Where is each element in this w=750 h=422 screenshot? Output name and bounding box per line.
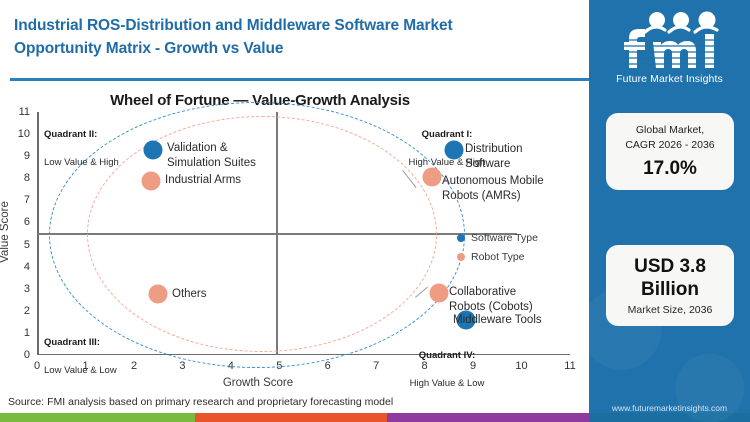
chart-container: Wheel of Fortune — Value-Growth Analysis… xyxy=(0,84,589,384)
bubble-industrial-arms[interactable] xyxy=(141,171,160,190)
cagr-card-value: 17.0% xyxy=(612,157,728,180)
legend-dot-icon-robot xyxy=(457,253,465,261)
footer-bar-purple xyxy=(387,413,589,422)
legend-item-robot-type[interactable]: Robot Type xyxy=(457,251,538,263)
y-tick-0: 0 xyxy=(24,349,30,361)
footer-bar-orange xyxy=(195,413,387,422)
cagr-card-caption: Global Market, CAGR 2026 - 2036 xyxy=(612,123,728,153)
x-axis-label: Growth Score xyxy=(223,377,293,389)
title-divider xyxy=(10,78,589,81)
x-tick-10: 10 xyxy=(515,360,527,372)
legend-label-robot-type: Robot Type xyxy=(471,251,525,263)
sidebar-panel: Future Market Insights Global Market, CA… xyxy=(589,0,750,422)
x-tick-0: 0 xyxy=(34,360,40,372)
market-size-card-caption: Market Size, 2036 xyxy=(612,304,728,316)
footer-bar-blue xyxy=(589,413,750,422)
quadrant-1-annotation: Quadrant I: High Value & High xyxy=(387,114,507,184)
y-tick-5: 5 xyxy=(24,239,30,251)
fmi-logo: Future Market Insights xyxy=(589,8,750,85)
quadrant-4-annotation: Quadrant IV: High Value & Low xyxy=(387,335,507,405)
y-axis-label: Value Score xyxy=(0,201,11,263)
fmi-logo-mark xyxy=(611,8,729,70)
quadrant-2-heading: Quadrant II: xyxy=(44,128,119,142)
x-tick-11: 11 xyxy=(564,360,575,372)
y-tick-1: 1 xyxy=(24,327,30,339)
infographic-page: Industrial ROS-Distribution and Middlewa… xyxy=(0,0,750,422)
footer-bar-green xyxy=(0,413,195,422)
y-tick-6: 6 xyxy=(24,216,30,228)
label-others: Others xyxy=(172,287,207,302)
website-url[interactable]: www.futuremarketinsights.com xyxy=(589,403,750,413)
quadrant-4-sub: High Value & Low xyxy=(387,377,507,391)
trend-ellipse-robot xyxy=(87,116,437,352)
y-tick-7: 7 xyxy=(24,194,30,206)
bubble-others[interactable] xyxy=(149,285,168,304)
main-content: Industrial ROS-Distribution and Middlewa… xyxy=(0,0,589,422)
legend-item-software-type[interactable]: Software Type xyxy=(457,232,538,244)
x-tick-2: 2 xyxy=(131,360,137,372)
market-size-card-value: USD 3.8 Billion xyxy=(612,255,728,301)
fmi-logo-subtitle: Future Market Insights xyxy=(589,73,750,85)
legend-label-software-type: Software Type xyxy=(471,232,538,244)
y-tick-9: 9 xyxy=(24,150,30,162)
y-tick-11: 11 xyxy=(19,106,30,118)
x-tick-6: 6 xyxy=(325,360,331,372)
y-tick-10: 10 xyxy=(18,128,30,140)
page-title-line-1: Industrial ROS-Distribution and Middlewa… xyxy=(14,14,574,37)
bubble-collaborative-robots[interactable] xyxy=(430,284,449,303)
chart-legend: Software Type Robot Type xyxy=(457,232,538,270)
market-size-card: USD 3.8 Billion Market Size, 2036 xyxy=(606,245,734,326)
label-industrial-arms: Industrial Arms xyxy=(165,173,241,188)
quadrant-2-sub: Low Value & High xyxy=(44,156,119,170)
x-tick-3: 3 xyxy=(179,360,185,372)
bubble-validation-simulation-suites[interactable] xyxy=(144,140,163,159)
y-tick-8: 8 xyxy=(24,172,30,184)
y-tick-2: 2 xyxy=(24,305,30,317)
quadrant-2-annotation: Quadrant II: Low Value & High xyxy=(44,114,119,184)
y-tick-3: 3 xyxy=(24,283,30,295)
quadrant-3-heading: Quadrant III: xyxy=(44,336,117,350)
source-note: Source: FMI analysis based on primary re… xyxy=(8,396,393,408)
cagr-card: Global Market, CAGR 2026 - 2036 17.0% xyxy=(606,113,734,190)
page-title-line-2: Opportunity Matrix - Growth vs Value xyxy=(14,37,574,60)
quadrant-3-sub: Low Value & Low xyxy=(44,364,117,378)
label-collaborative-robots: Collaborative Robots (Cobots) xyxy=(449,285,533,315)
y-tick-4: 4 xyxy=(24,261,30,273)
page-title: Industrial ROS-Distribution and Middlewa… xyxy=(14,14,574,60)
legend-dot-icon-software xyxy=(457,234,465,242)
x-tick-7: 7 xyxy=(373,360,379,372)
quadrant-1-sub: High Value & High xyxy=(387,156,507,170)
quadrant-3-annotation: Quadrant III: Low Value & Low xyxy=(44,322,117,392)
quadrant-4-heading: Quadrant IV: xyxy=(387,349,507,363)
quadrant-1-heading: Quadrant I: xyxy=(387,128,507,142)
label-middleware-tools: Middleware Tools xyxy=(453,313,542,328)
label-validation-simulation-suites: Validation & Simulation Suites xyxy=(167,141,256,171)
